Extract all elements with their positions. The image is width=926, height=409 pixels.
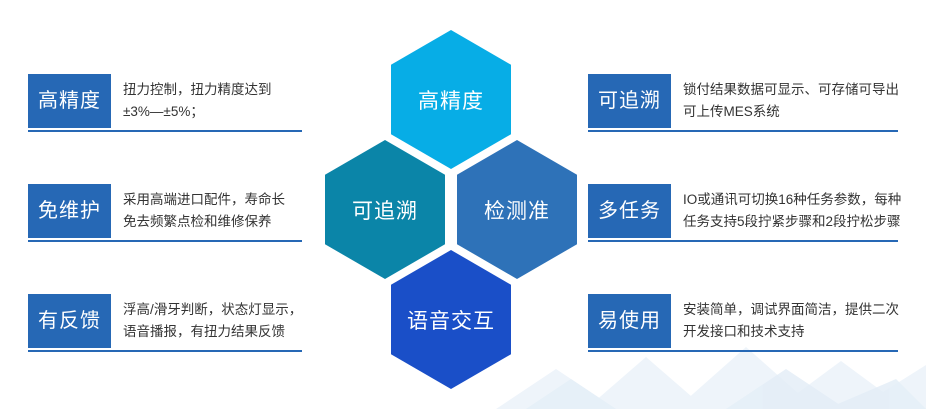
feature-tag-precision: 高精度 [28, 74, 111, 128]
product-features-infographic: 高精度 扭力控制，扭力精度达到 ±3%—±5%； 免维护 采用高端进口配件，寿命… [0, 0, 926, 409]
feature-underline [588, 130, 898, 132]
feature-description-multitask: IO或通讯可切换16种任务参数，每种 任务支持5段拧紧步骤和2段拧松步骤 [671, 184, 901, 238]
feature-underline [28, 240, 302, 242]
feature-block-multitask: 多任务 IO或通讯可切换16种任务参数，每种 任务支持5段拧紧步骤和2段拧松步骤 [588, 184, 898, 238]
feature-desc-line-1: 扭力控制，扭力精度达到 [123, 79, 302, 101]
feature-block-feedback: 有反馈 浮高/滑牙判断，状态灯显示， 语音播报，有扭力结果反馈 [28, 294, 302, 348]
hexagon-accurate-detection: 检测准 [457, 140, 577, 279]
feature-desc-line-2: 免去频繁点检和维修保养 [123, 211, 302, 233]
hexagon-label-voice-interaction: 语音交互 [407, 305, 495, 335]
feature-tag-traceable: 可追溯 [588, 74, 671, 128]
feature-desc-line-2: 任务支持5段拧紧步骤和2段拧松步骤 [683, 211, 901, 233]
hexagon-cluster: 高精度 可追溯 检测准 语音交互 [325, 28, 587, 388]
feature-block-easy-to-use: 易使用 安装简单，调试界面简洁，提供二次 开发接口和技术支持 [588, 294, 898, 348]
feature-desc-line-1: 采用高端进口配件，寿命长 [123, 189, 302, 211]
feature-block-traceable: 可追溯 锁付结果数据可显示、可存储可导出 可上传MES系统 [588, 74, 898, 128]
feature-tag-multitask: 多任务 [588, 184, 671, 238]
feature-tag-easy-to-use: 易使用 [588, 294, 671, 348]
feature-desc-line-1: IO或通讯可切换16种任务参数，每种 [683, 189, 901, 211]
feature-description-precision: 扭力控制，扭力精度达到 ±3%—±5%； [111, 74, 302, 128]
feature-desc-line-1: 安装简单，调试界面简洁，提供二次 [683, 299, 899, 321]
feature-tag-maintenance-free: 免维护 [28, 184, 111, 238]
hexagon-voice-interaction: 语音交互 [391, 250, 511, 389]
feature-description-easy-to-use: 安装简单，调试界面简洁，提供二次 开发接口和技术支持 [671, 294, 899, 348]
feature-underline [28, 350, 302, 352]
hexagon-label-traceable: 可追溯 [352, 195, 418, 225]
feature-tag-feedback: 有反馈 [28, 294, 111, 348]
feature-block-maintenance-free: 免维护 采用高端进口配件，寿命长 免去频繁点检和维修保养 [28, 184, 302, 238]
feature-description-feedback: 浮高/滑牙判断，状态灯显示， 语音播报，有扭力结果反馈 [111, 294, 302, 348]
feature-underline [28, 130, 302, 132]
feature-desc-line-1: 锁付结果数据可显示、可存储可导出 [683, 79, 899, 101]
hexagon-precision: 高精度 [391, 30, 511, 169]
feature-underline [588, 350, 898, 352]
feature-desc-line-1: 浮高/滑牙判断，状态灯显示， [123, 299, 302, 321]
hexagon-label-accurate-detection: 检测准 [484, 195, 550, 225]
hexagon-traceable: 可追溯 [325, 140, 445, 279]
hexagon-label-precision: 高精度 [418, 85, 484, 115]
feature-description-maintenance-free: 采用高端进口配件，寿命长 免去频繁点检和维修保养 [111, 184, 302, 238]
feature-desc-line-2: 语音播报，有扭力结果反馈 [123, 321, 302, 343]
feature-block-precision: 高精度 扭力控制，扭力精度达到 ±3%—±5%； [28, 74, 302, 128]
feature-description-traceable: 锁付结果数据可显示、可存储可导出 可上传MES系统 [671, 74, 899, 128]
feature-desc-line-2: ±3%—±5%； [123, 101, 302, 123]
feature-underline [588, 240, 898, 242]
feature-desc-line-2: 可上传MES系统 [683, 101, 899, 123]
feature-desc-line-2: 开发接口和技术支持 [683, 321, 899, 343]
